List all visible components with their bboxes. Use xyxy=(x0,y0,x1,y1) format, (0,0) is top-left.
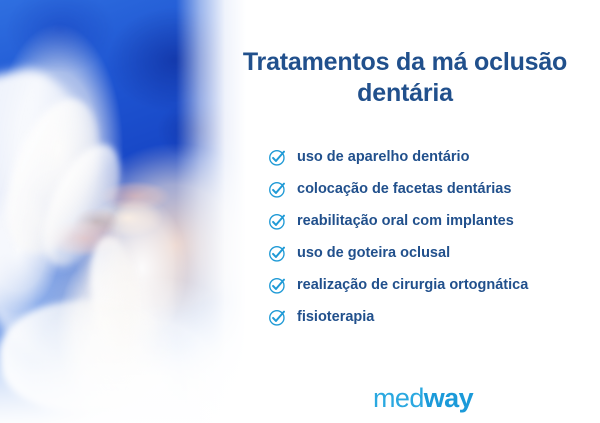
list-item: uso de goteira oclusal xyxy=(268,237,600,269)
list-item-label: fisioterapia xyxy=(297,310,374,325)
content-panel: Tratamentos da má oclusão dentária uso d… xyxy=(246,0,600,423)
list-item: fisioterapia xyxy=(268,301,600,333)
list-item: uso de aparelho dentário xyxy=(268,141,600,173)
page-title-line-2: dentária xyxy=(357,79,453,107)
check-circle-icon xyxy=(268,212,287,231)
list-item-label: uso de goteira oclusal xyxy=(297,246,450,261)
page-title-line-1: Tratamentos da má oclusão xyxy=(243,48,567,76)
check-circle-icon xyxy=(268,308,287,327)
check-circle-icon xyxy=(268,244,287,263)
logo-text-med: med xyxy=(373,383,424,413)
infographic-card: Tratamentos da má oclusão dentária uso d… xyxy=(0,0,600,423)
list-item-label: reabilitação oral com implantes xyxy=(297,214,514,229)
treatments-list: uso de aparelho dentário colocação de fa… xyxy=(268,141,600,333)
list-item: realização de cirurgia ortognática xyxy=(268,269,600,301)
logo-text-way: way xyxy=(424,383,473,413)
list-item: colocação de facetas dentárias xyxy=(268,173,600,205)
list-item-label: realização de cirurgia ortognática xyxy=(297,278,528,293)
medway-logo: medway xyxy=(246,385,600,412)
list-item-label: colocação de facetas dentárias xyxy=(297,182,511,197)
page-title: Tratamentos da má oclusão dentária xyxy=(210,47,600,110)
list-item-label: uso de aparelho dentário xyxy=(297,150,469,165)
list-item: reabilitação oral com implantes xyxy=(268,205,600,237)
check-circle-icon xyxy=(268,180,287,199)
check-circle-icon xyxy=(268,148,287,167)
check-circle-icon xyxy=(268,276,287,295)
